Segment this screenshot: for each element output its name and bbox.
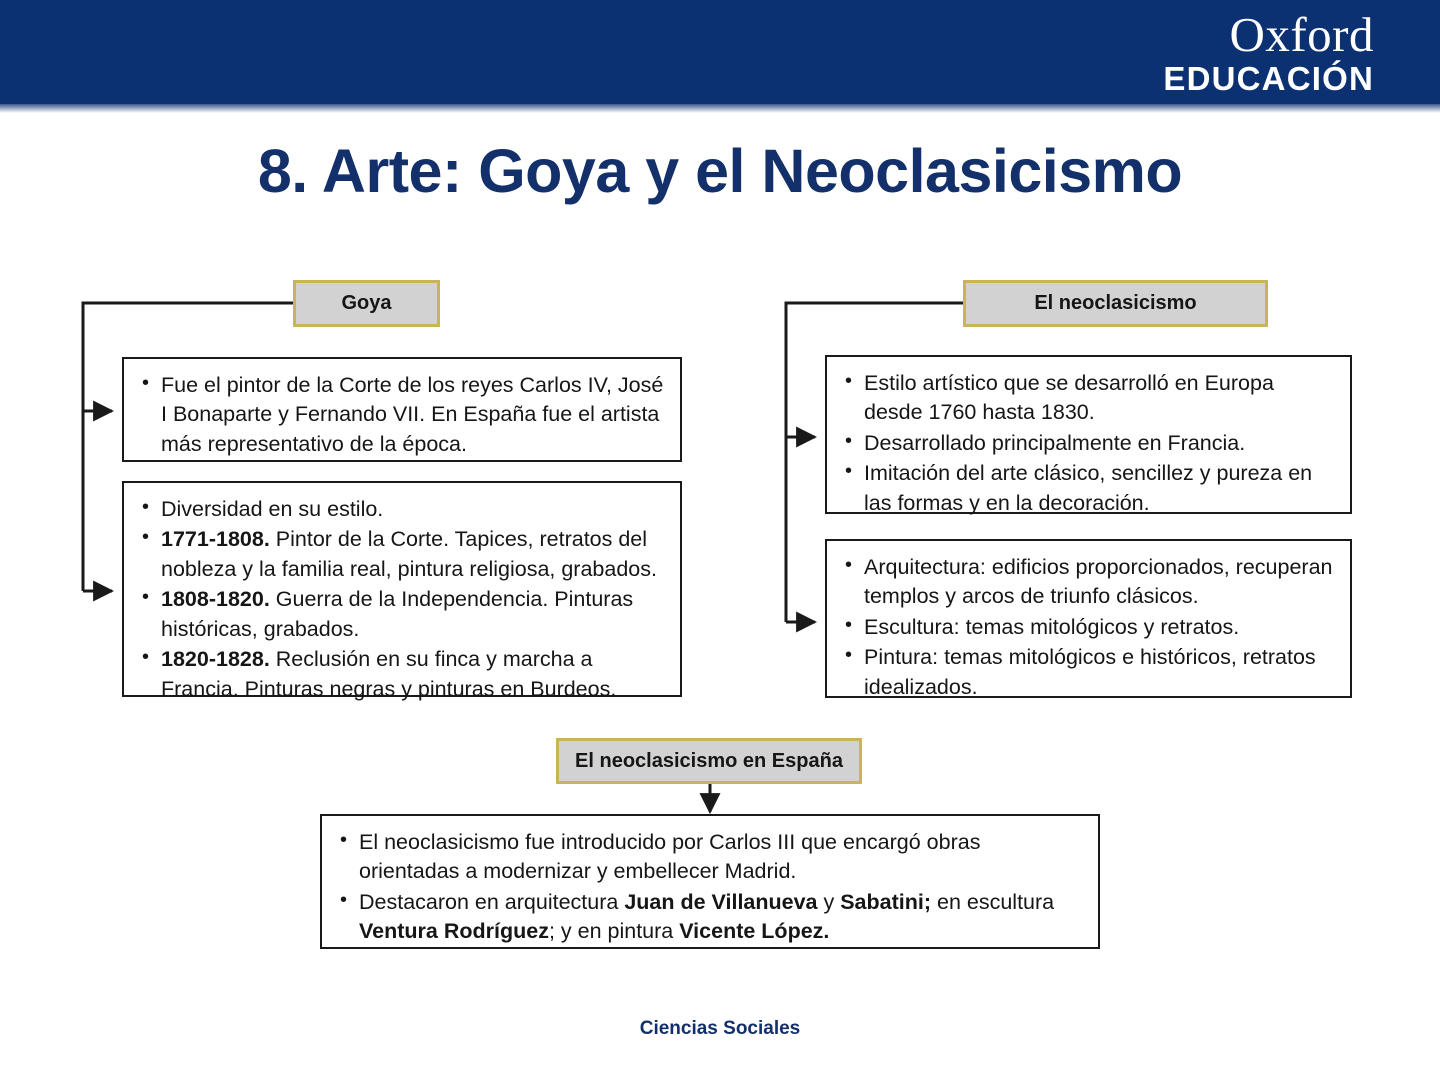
person-sabatini: Sabatini; [840, 890, 931, 914]
list-item-lead: 1808-1820. [161, 587, 270, 611]
list-item: El neoclasicismo fue introducido por Car… [336, 828, 1082, 887]
list-item-text: Diversidad en su estilo. [161, 497, 383, 521]
neoclasicismo-box-2: Arquitectura: edificios proporcionados, … [825, 539, 1352, 698]
list-item: Destacaron en arquitectura Juan de Villa… [336, 888, 1082, 947]
person-villanueva: Juan de Villanueva [624, 890, 817, 914]
list-item: Fue el pintor de la Corte de los reyes C… [138, 371, 664, 459]
espana-box: El neoclasicismo fue introducido por Car… [320, 814, 1100, 949]
list-item: Imitación del arte clásico, sencillez y … [841, 459, 1334, 518]
list-item-text: Destacaron en arquitectura [359, 890, 624, 914]
list-item-lead: 1820-1828. [161, 647, 270, 671]
goya-box-2: Diversidad en su estilo. 1771-1808. Pint… [122, 481, 682, 697]
list-item: 1771-1808. Pintor de la Corte. Tapices, … [138, 525, 664, 584]
category-neoclasicismo-espana-label: El neoclasicismo en España [575, 750, 843, 773]
category-neoclasicismo-label: El neoclasicismo [1034, 292, 1196, 315]
neoclasicismo-box-1-list: Estilo artístico que se desarrolló en Eu… [841, 369, 1334, 518]
neoclasicismo-box-1: Estilo artístico que se desarrolló en Eu… [825, 355, 1352, 514]
list-item: Diversidad en su estilo. [138, 495, 664, 524]
category-neoclasicismo-espana: El neoclasicismo en España [556, 738, 862, 784]
list-item: 1820-1828. Reclusión en su finca y march… [138, 645, 664, 704]
list-item: Desarrollado principalmente en Francia. [841, 429, 1334, 458]
list-item-text: ; y en pintura [549, 919, 679, 943]
category-goya: Goya [293, 280, 440, 327]
espana-box-list: El neoclasicismo fue introducido por Car… [336, 828, 1082, 947]
diagram: Goya Fue el pintor de la Corte de los re… [0, 0, 1440, 1080]
list-item: Escultura: temas mitológicos y retratos. [841, 613, 1334, 642]
list-item-lead: 1771-1808. [161, 527, 270, 551]
goya-box-2-list: Diversidad en su estilo. 1771-1808. Pint… [138, 495, 664, 704]
category-goya-label: Goya [341, 292, 391, 315]
goya-box-1: Fue el pintor de la Corte de los reyes C… [122, 357, 682, 462]
list-item: Arquitectura: edificios proporcionados, … [841, 553, 1334, 612]
list-item: Estilo artístico que se desarrolló en Eu… [841, 369, 1334, 428]
list-item: Pintura: temas mitológicos e históricos,… [841, 643, 1334, 702]
person-vicente-lopez: Vicente López. [679, 919, 829, 943]
footer-label: Ciencias Sociales [0, 1018, 1440, 1040]
goya-box-1-list: Fue el pintor de la Corte de los reyes C… [138, 371, 664, 459]
neoclasicismo-box-2-list: Arquitectura: edificios proporcionados, … [841, 553, 1334, 702]
list-item-text: y [818, 890, 841, 914]
category-neoclasicismo: El neoclasicismo [963, 280, 1268, 327]
list-item: 1808-1820. Guerra de la Independencia. P… [138, 585, 664, 644]
person-ventura-rodriguez: Ventura Rodríguez [359, 919, 549, 943]
list-item-text: en escultura [931, 890, 1054, 914]
